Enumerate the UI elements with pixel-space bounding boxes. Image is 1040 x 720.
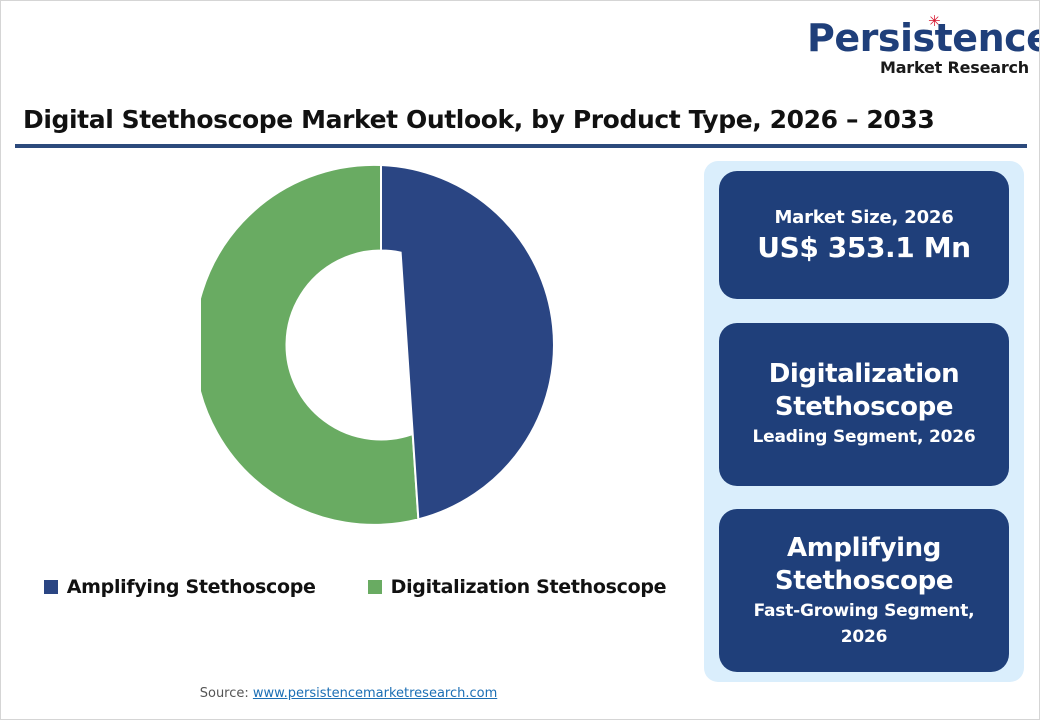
- stat-card-fast-growing-segment[interactable]: Amplifying Stethoscope Fast-Growing Segm…: [719, 509, 1009, 672]
- leading-segment-note: Leading Segment, 2026: [753, 424, 976, 450]
- legend-swatch-amplifying: [44, 580, 58, 594]
- legend-swatch-digitalization: [368, 580, 382, 594]
- market-size-label: Market Size, 2026: [774, 205, 953, 230]
- legend-label-digitalization: Digitalization Stethoscope: [391, 576, 667, 598]
- brand-tagline: Market Research: [807, 59, 1029, 77]
- donut-chart: [15, 156, 695, 556]
- highlights-panel: Market Size, 2026 US$ 353.1 Mn Digitaliz…: [704, 161, 1024, 682]
- stat-card-market-size[interactable]: Market Size, 2026 US$ 353.1 Mn: [719, 171, 1009, 299]
- stat-card-leading-segment[interactable]: Digitalization Stethoscope Leading Segme…: [719, 323, 1009, 486]
- source-line: Source: www.persistencemarketresearch.co…: [1, 686, 696, 702]
- legend-item-amplifying[interactable]: Amplifying Stethoscope: [44, 576, 316, 598]
- star-icon: ✳: [928, 16, 939, 27]
- donut-chart-svg: [201, 165, 561, 525]
- brand-name-text: Persistence: [807, 16, 1040, 60]
- page-title: Digital Stethoscope Market Outlook, by P…: [23, 105, 934, 135]
- leading-segment-title-line1: Digitalization: [769, 358, 960, 391]
- chart-legend: Amplifying Stethoscope Digitalization St…: [15, 567, 695, 607]
- title-underline-rule: [15, 144, 1027, 148]
- fast-growing-title-line2: Stethoscope: [775, 565, 953, 598]
- brand-logo: Persistence ✳ Market Research: [807, 19, 1029, 77]
- market-size-value: US$ 353.1 Mn: [757, 230, 970, 266]
- fast-growing-note: Fast-Growing Segment, 2026: [731, 598, 997, 650]
- brand-name: Persistence ✳: [807, 19, 1029, 57]
- source-prefix: Source:: [200, 686, 253, 701]
- fast-growing-title-line1: Amplifying: [787, 532, 941, 565]
- infographic-page: Persistence ✳ Market Research Digital St…: [0, 0, 1040, 720]
- source-url-link[interactable]: www.persistencemarketresearch.com: [253, 686, 497, 701]
- legend-label-amplifying: Amplifying Stethoscope: [67, 576, 316, 598]
- legend-item-digitalization[interactable]: Digitalization Stethoscope: [368, 576, 667, 598]
- leading-segment-title-line2: Stethoscope: [775, 391, 953, 424]
